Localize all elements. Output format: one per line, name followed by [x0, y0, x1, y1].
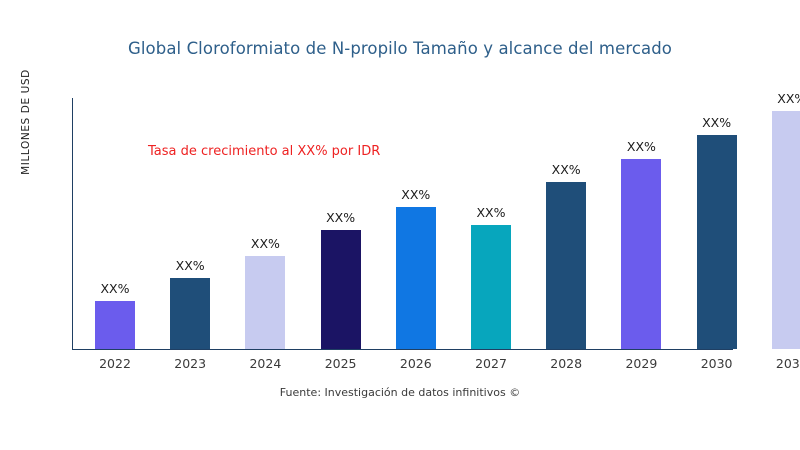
bar-rect	[321, 230, 361, 349]
plot-area: XX%2022XX%2023XX%2024XX%2025XX%2026XX%20…	[0, 0, 800, 450]
bar-value-label: XX%	[702, 115, 731, 130]
bar-rect	[245, 256, 285, 349]
x-tick-2023: 2023	[155, 356, 225, 371]
x-tick-2022: 2022	[80, 356, 150, 371]
bar-value-label: XX%	[777, 91, 800, 106]
growth-rate-annotation: Tasa de crecimiento al XX% por IDR	[148, 144, 380, 159]
bar-value-label: XX%	[251, 236, 280, 251]
bar-rect	[396, 207, 436, 349]
bar-value-label: XX%	[401, 187, 430, 202]
bar-2031[interactable]: XX%	[772, 111, 800, 349]
x-tick-2030: 2030	[682, 356, 752, 371]
bar-2022[interactable]: XX%	[95, 301, 135, 349]
bar-2027[interactable]: XX%	[471, 225, 511, 349]
bar-rect	[697, 135, 737, 349]
x-tick-2027: 2027	[456, 356, 526, 371]
bar-rect	[546, 182, 586, 349]
bar-value-label: XX%	[326, 210, 355, 225]
bar-rect	[95, 301, 135, 349]
bar-2029[interactable]: XX%	[621, 159, 661, 349]
x-tick-2028: 2028	[531, 356, 601, 371]
bar-value-label: XX%	[552, 162, 581, 177]
bar-2028[interactable]: XX%	[546, 182, 586, 349]
bar-rect	[170, 278, 210, 349]
bar-2030[interactable]: XX%	[697, 135, 737, 349]
bar-value-label: XX%	[627, 139, 656, 154]
bar-2025[interactable]: XX%	[321, 230, 361, 349]
x-tick-2024: 2024	[230, 356, 300, 371]
x-tick-2026: 2026	[381, 356, 451, 371]
bar-rect	[471, 225, 511, 349]
bar-value-label: XX%	[100, 281, 129, 296]
bar-2023[interactable]: XX%	[170, 278, 210, 349]
source-note: Fuente: Investigación de datos infinitiv…	[0, 386, 800, 399]
bar-value-label: XX%	[476, 205, 505, 220]
x-tick-2029: 2029	[606, 356, 676, 371]
bar-2026[interactable]: XX%	[396, 207, 436, 349]
bar-chart: Global Cloroformiato de N-propilo Tamaño…	[0, 0, 800, 450]
bar-value-label: XX%	[176, 258, 205, 273]
x-tick-2031: 2031	[757, 356, 800, 371]
bar-rect	[772, 111, 800, 349]
bar-2024[interactable]: XX%	[245, 256, 285, 349]
bar-rect	[621, 159, 661, 349]
x-tick-2025: 2025	[306, 356, 376, 371]
